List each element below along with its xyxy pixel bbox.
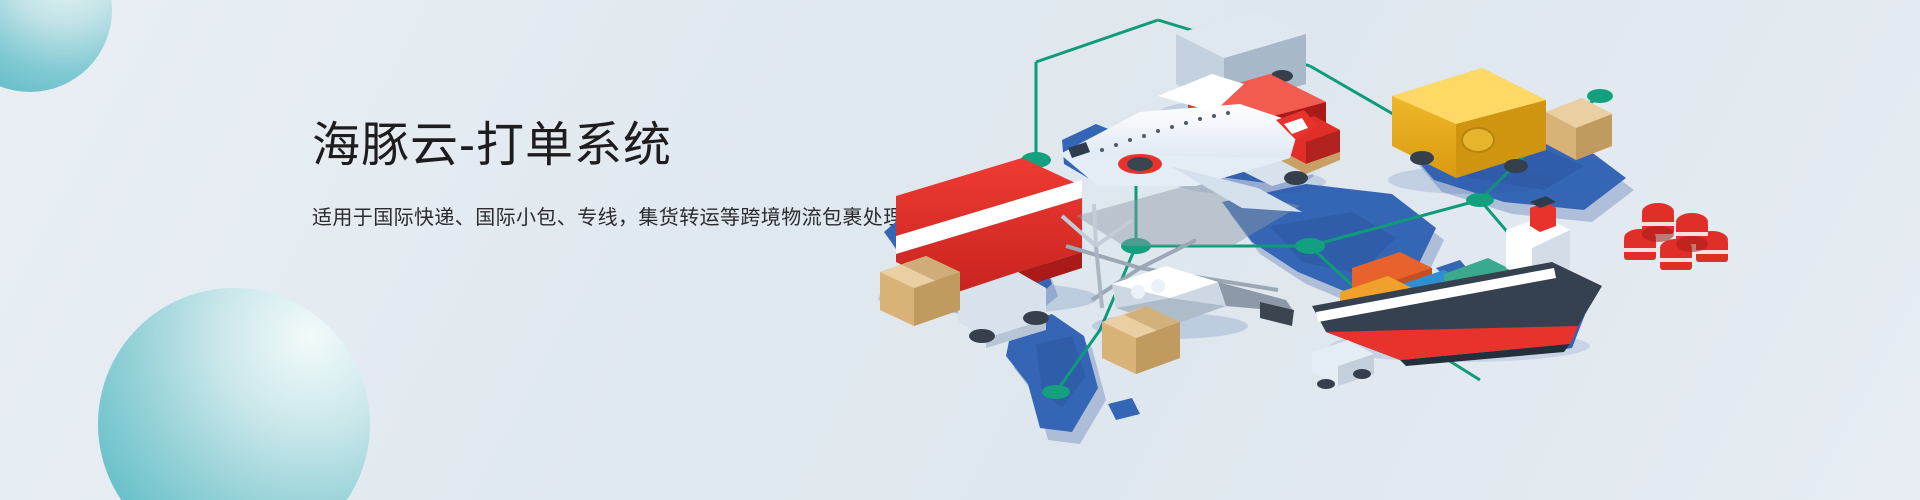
yellow-delivery-van	[1388, 68, 1552, 194]
hero-banner: 海豚云-打单系统 适用于国际快递、国际小包、专线，集货转运等跨境物流包裹处理	[0, 0, 1920, 500]
bottom-left-decorative-circle	[98, 288, 370, 500]
top-left-decorative-circle	[0, 0, 112, 92]
global-logistics-illustration	[840, 0, 1920, 500]
cardboard-boxes-left	[880, 256, 960, 326]
hero-text-block: 海豚云-打单系统 适用于国际快递、国际小包、专线，集货转运等跨境物流包裹处理	[312, 118, 932, 233]
page-title: 海豚云-打单系统	[312, 118, 932, 175]
red-barrels	[1624, 203, 1728, 270]
page-subtitle: 适用于国际快递、国际小包、专线，集货转运等跨境物流包裹处理	[312, 203, 932, 233]
